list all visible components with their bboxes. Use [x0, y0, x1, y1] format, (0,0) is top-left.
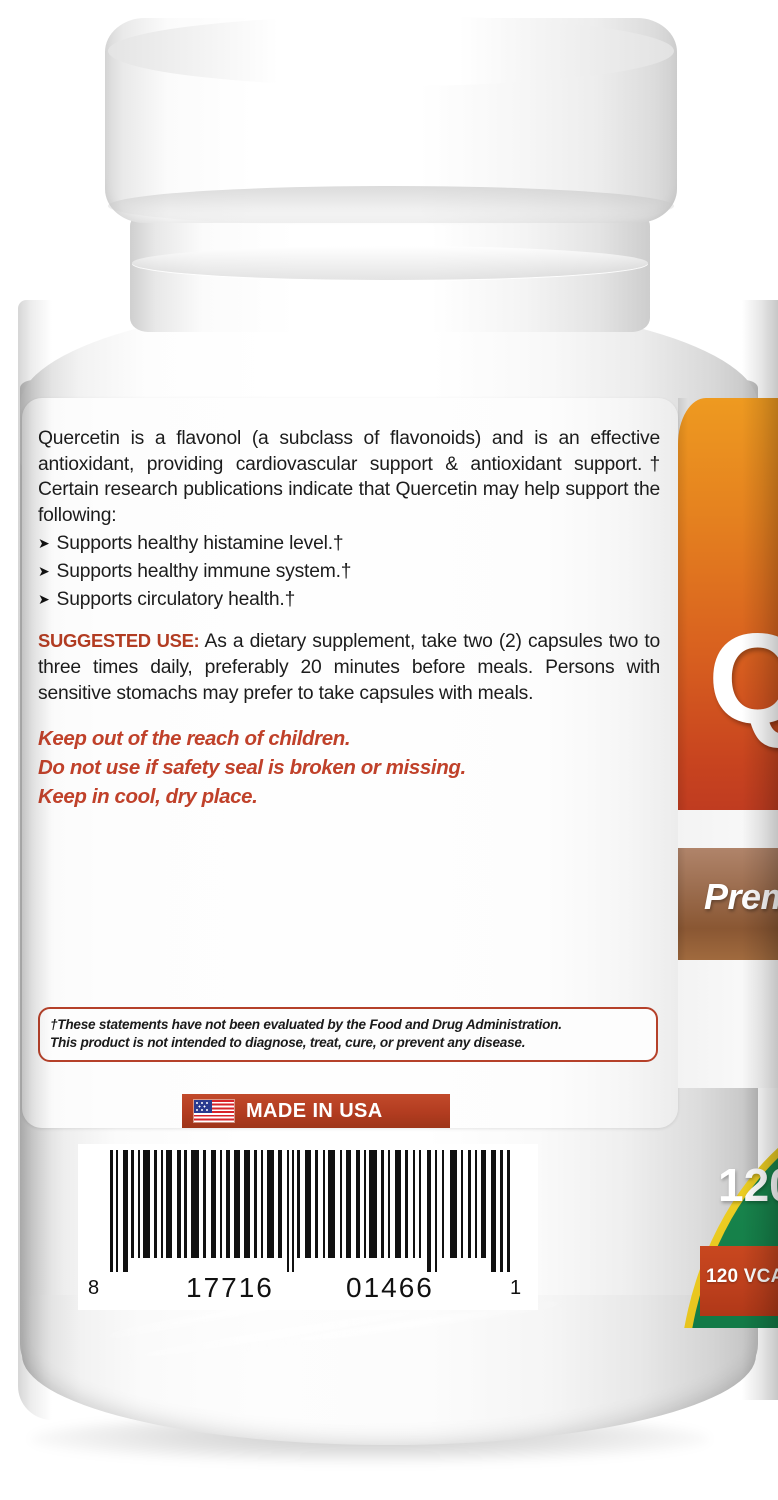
- capsule-count-label: 120 VCAPSULES: [706, 1266, 778, 1288]
- us-flag-icon: [193, 1099, 235, 1123]
- barcode-bar: [500, 1150, 502, 1272]
- benefit-bullet-list: ➤ Supports healthy histamine level.† ➤ S…: [38, 530, 660, 614]
- bottle-cap-top: [108, 16, 674, 86]
- barcode-bar: [234, 1150, 240, 1258]
- barcode-bars: [110, 1150, 522, 1272]
- arrow-bullet-icon: ➤: [38, 536, 50, 550]
- barcode-bar: [203, 1150, 206, 1258]
- suggested-use-paragraph: SUGGESTED USE: As a dietary supplement, …: [38, 628, 660, 706]
- barcode-bar: [435, 1150, 437, 1272]
- barcode-bar: [413, 1150, 415, 1258]
- barcode-bar: [292, 1150, 294, 1272]
- barcode-digit-left: 8: [88, 1277, 101, 1300]
- barcode-bar: [419, 1150, 421, 1258]
- barcode-bar: [261, 1150, 263, 1258]
- front-green-panel: 120 120 VCAPSULES: [678, 1070, 778, 1328]
- barcode-bar: [328, 1150, 335, 1258]
- barcode-bar: [254, 1150, 257, 1258]
- barcode-bar: [323, 1150, 325, 1258]
- barcode: 8 17716 01466 1: [78, 1144, 538, 1310]
- barcode-bar: [481, 1150, 485, 1258]
- barcode-bar: [154, 1150, 156, 1258]
- barcode-bar: [369, 1150, 376, 1258]
- product-photo-canvas: Quercetin is a flavonol (a subclass of f…: [0, 0, 778, 1500]
- barcode-bar: [442, 1150, 444, 1258]
- warning-line: Keep in cool, dry place.: [38, 782, 660, 811]
- barcode-bar: [131, 1150, 134, 1258]
- barcode-bar: [143, 1150, 150, 1258]
- made-in-usa-label: MADE IN USA: [246, 1100, 383, 1123]
- barcode-bar: [405, 1150, 408, 1258]
- warning-line: Keep out of the reach of children.: [38, 724, 660, 753]
- front-label-edge: Q Premium 120 120 VCAPSULES: [678, 398, 778, 1328]
- list-item: ➤ Supports healthy immune system.†: [38, 558, 660, 586]
- barcode-bar: [220, 1150, 222, 1258]
- list-item-label: Supports healthy immune system.†: [57, 558, 352, 586]
- barcode-digits: 8 17716 01466 1: [86, 1272, 530, 1306]
- barcode-bar: [450, 1150, 457, 1258]
- barcode-bar: [123, 1150, 128, 1272]
- barcode-bar: [184, 1150, 187, 1258]
- list-item-label: Supports healthy histamine level.†: [57, 530, 344, 558]
- barcode-bar: [427, 1150, 430, 1272]
- warning-block: Keep out of the reach of children. Do no…: [38, 724, 660, 811]
- barcode-bar: [297, 1150, 300, 1258]
- list-item-label: Supports circulatory health.†: [57, 586, 296, 614]
- barcode-bar: [356, 1150, 360, 1258]
- front-label-gap-lower: [678, 960, 778, 1088]
- list-item: ➤ Supports circulatory health.†: [38, 586, 660, 614]
- barcode-digit-group-2: 01466: [346, 1272, 434, 1304]
- barcode-bar: [267, 1150, 274, 1258]
- barcode-digit-right: 1: [510, 1277, 523, 1300]
- barcode-bar: [177, 1150, 181, 1258]
- product-name-initial: Q: [708, 616, 778, 744]
- disclaimer-line: This product is not intended to diagnose…: [50, 1034, 646, 1052]
- capsule-count-number: 120: [718, 1158, 778, 1212]
- barcode-bar: [287, 1150, 289, 1272]
- barcode-bar: [315, 1150, 318, 1258]
- back-label-panel: Quercetin is a flavonol (a subclass of f…: [22, 398, 678, 1128]
- suggested-use-heading: SUGGESTED USE:: [38, 630, 199, 651]
- barcode-bar: [491, 1150, 496, 1272]
- barcode-bar: [461, 1150, 463, 1258]
- arrow-bullet-icon: ➤: [38, 564, 50, 578]
- barcode-bar: [116, 1150, 118, 1272]
- barcode-bar: [166, 1150, 172, 1258]
- barcode-bar: [340, 1150, 342, 1258]
- list-item: ➤ Supports healthy histamine level.†: [38, 530, 660, 558]
- barcode-bar: [395, 1150, 401, 1258]
- barcode-digit-group-1: 17716: [186, 1272, 274, 1304]
- barcode-bar: [346, 1150, 351, 1258]
- barcode-bar: [278, 1150, 282, 1258]
- barcode-bar: [468, 1150, 471, 1258]
- barcode-bar: [138, 1150, 140, 1258]
- front-label-gap: [678, 810, 778, 850]
- barcode-bar: [305, 1150, 311, 1258]
- barcode-bar: [381, 1150, 384, 1258]
- barcode-bar: [226, 1150, 229, 1258]
- barcode-bar: [507, 1150, 510, 1272]
- bottle-neck-ring: [132, 246, 648, 280]
- arrow-bullet-icon: ➤: [38, 592, 50, 606]
- barcode-bar: [475, 1150, 477, 1258]
- barcode-bar: [191, 1150, 198, 1258]
- barcode-bar: [211, 1150, 216, 1258]
- barcode-bar: [388, 1150, 390, 1258]
- fda-disclaimer-box: †These statements have not been evaluate…: [38, 1007, 658, 1062]
- barcode-bar: [244, 1150, 249, 1258]
- warning-line: Do not use if safety seal is broken or m…: [38, 753, 660, 782]
- made-in-usa-badge: MADE IN USA: [182, 1094, 450, 1128]
- disclaimer-line: †These statements have not been evaluate…: [50, 1016, 646, 1034]
- barcode-bar: [110, 1150, 113, 1272]
- premium-text: Premium: [704, 876, 778, 918]
- barcode-bar: [161, 1150, 163, 1258]
- bottle-cap-edge: [108, 186, 674, 226]
- intro-paragraph: Quercetin is a flavonol (a subclass of f…: [38, 426, 660, 528]
- barcode-bar: [364, 1150, 366, 1258]
